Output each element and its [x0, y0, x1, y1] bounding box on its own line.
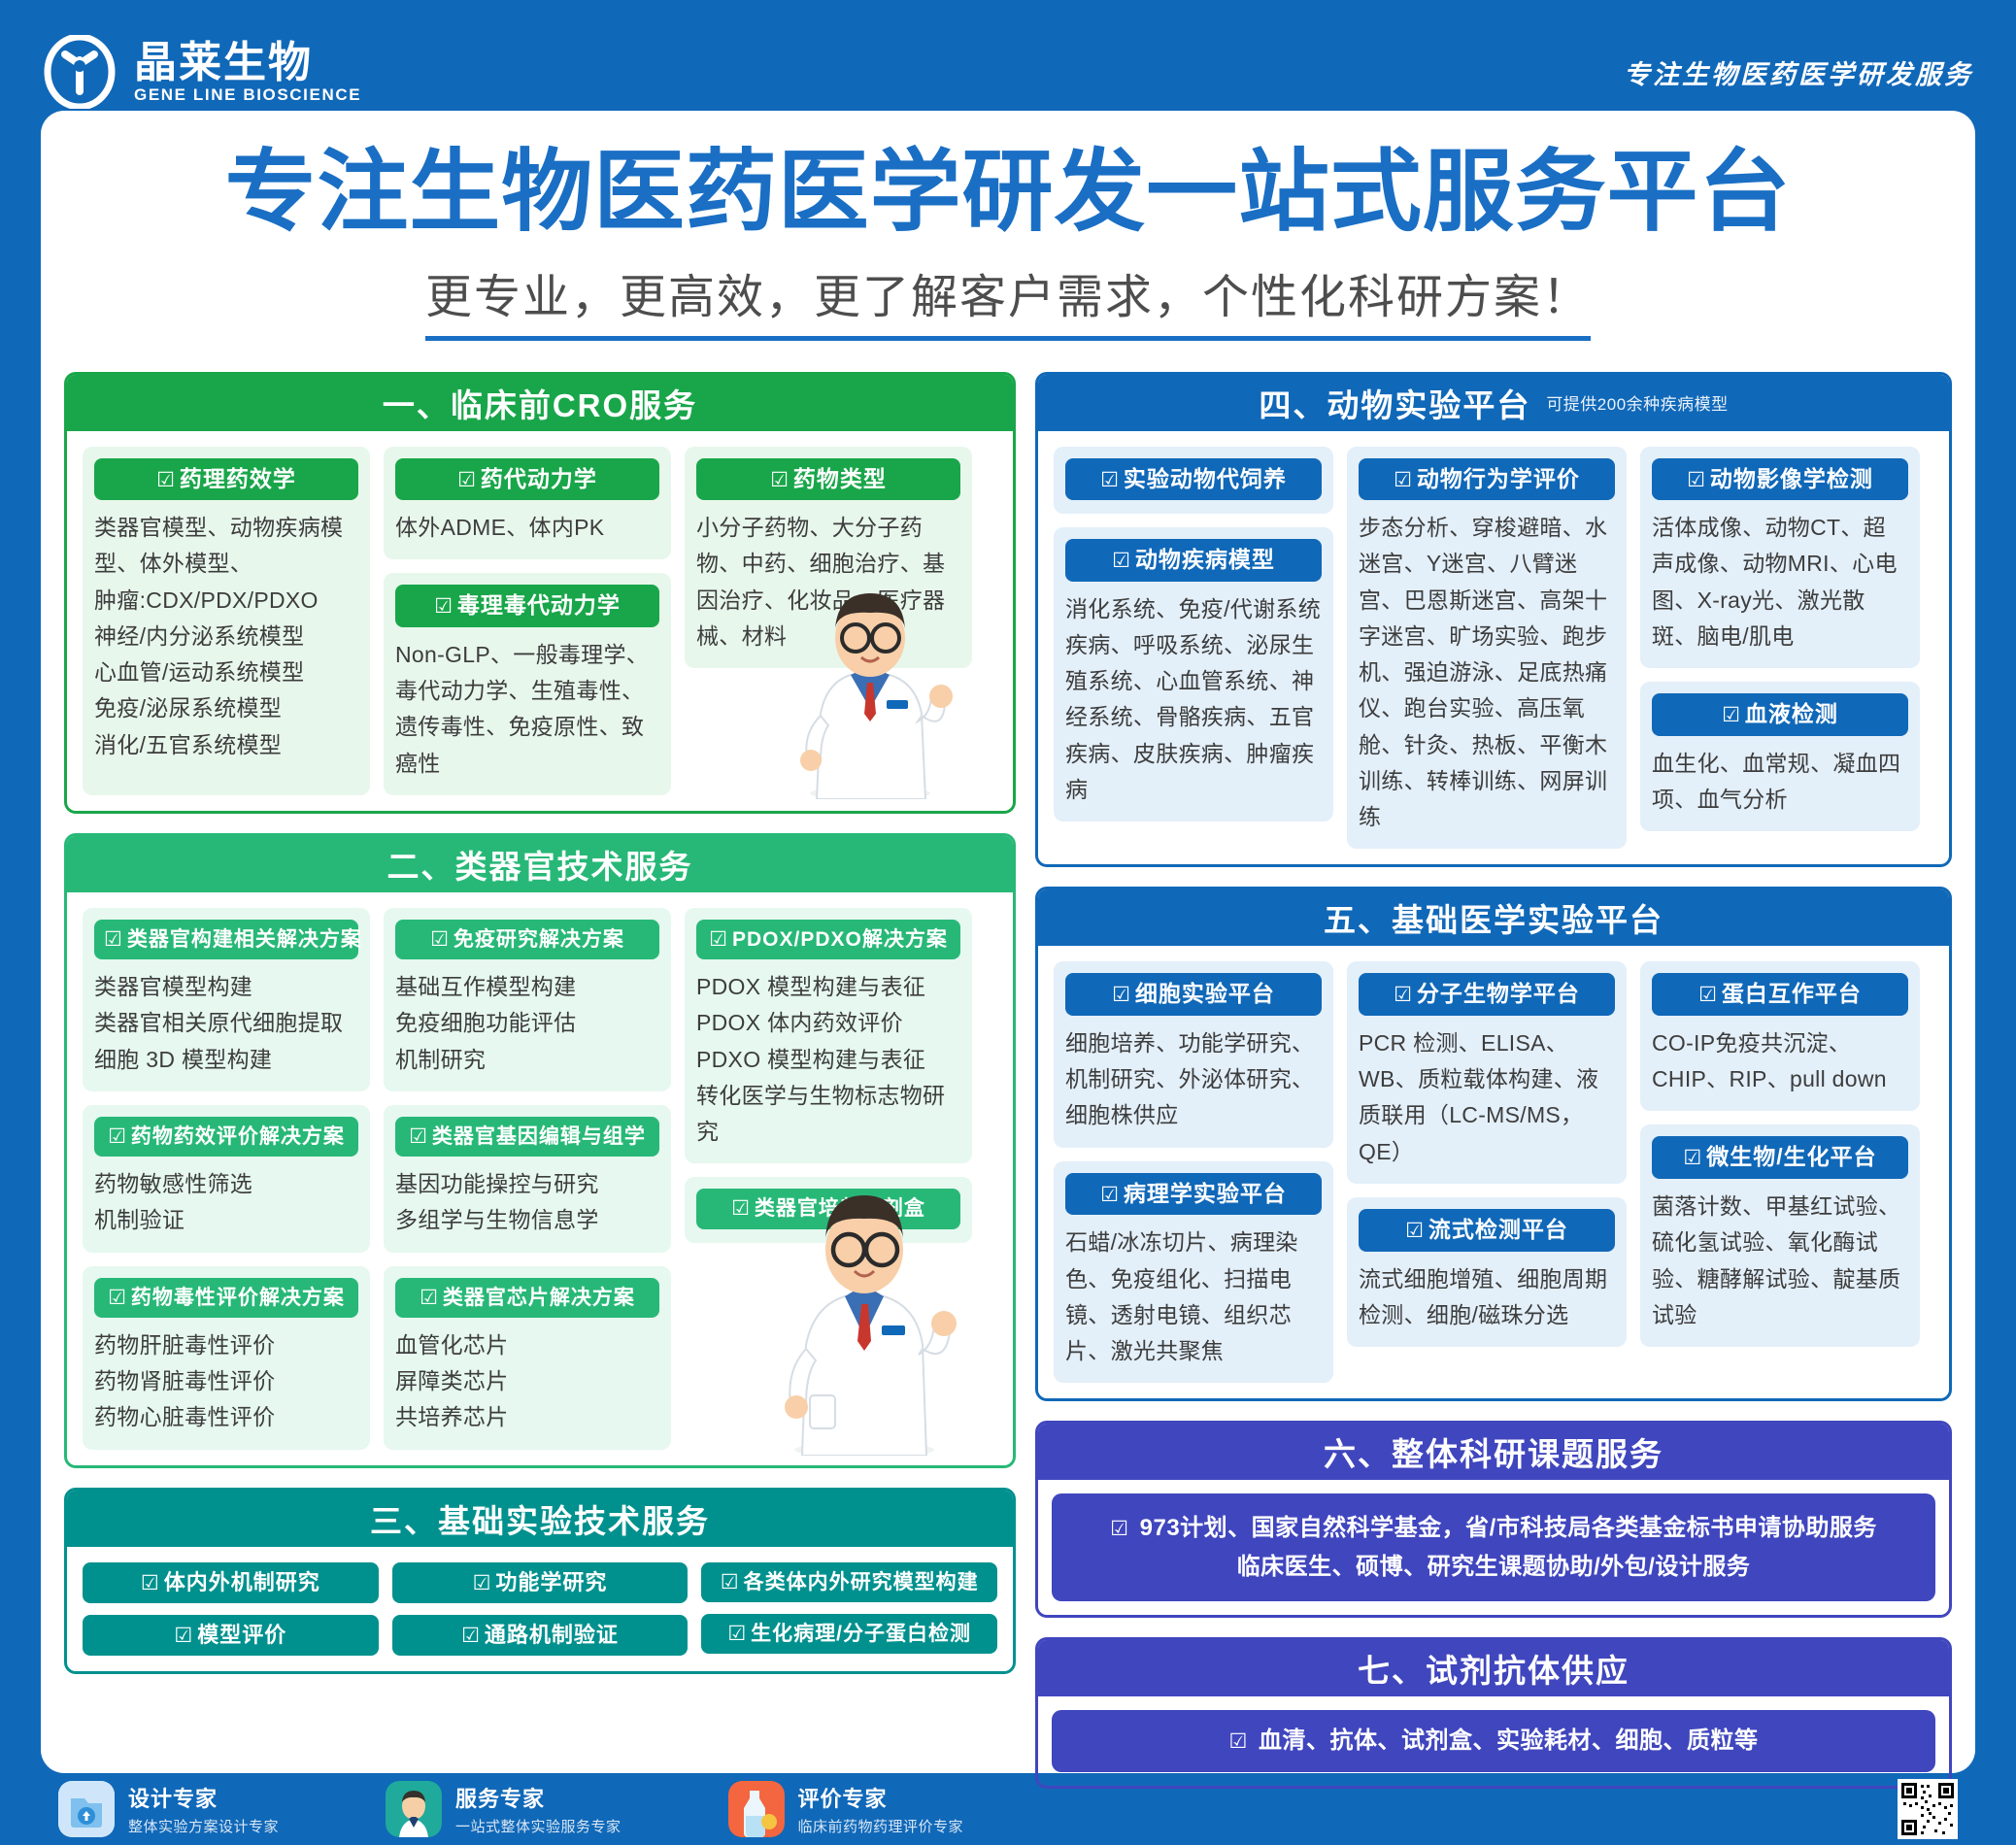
check-icon: ☑: [430, 928, 450, 951]
column-animal-behavior: ☑动物行为学评价 步态分析、穿梭避暗、水迷宫、Y迷宫、八臂迷宫、巴恩斯迷宫、高架…: [1347, 447, 1627, 850]
header-slogan: 专注生物医药医学研发服务: [1624, 53, 1973, 91]
card-toxicokinetics[interactable]: ☑毒理毒代动力学 Non-GLP、一般毒理学、毒代动力学、生殖毒性、遗传毒性、免…: [384, 573, 671, 795]
card-protein-interaction[interactable]: ☑蛋白互作平台 CO-IP免疫共沉淀、CHIP、RIP、pull down: [1640, 961, 1920, 1111]
s3-column-2: ☑功能学研究 ☑通路机制验证: [392, 1562, 689, 1657]
text-immune-research: 基础互作模型构建 免疫细胞功能评估 机制研究: [395, 969, 659, 1078]
card-gene-editing-omics[interactable]: ☑类器官基因编辑与组学 基因功能操控与研究 多组学与生物信息学: [384, 1105, 671, 1253]
check-icon: ☑: [1112, 550, 1131, 572]
column-pk-tox: ☑药代动力学 体外ADME、体内PK ☑毒理毒代动力学 Non-GLP、一般毒理…: [384, 447, 671, 795]
check-icon: ☑: [1100, 1184, 1120, 1206]
logo-english-name: GENE LINE BIOSCIENCE: [134, 86, 361, 103]
section-1-preclinical-cro: 一、临床前CRO服务 ☑药理药效学 类器官模型、动物疾病模型、体外模型、 肿瘤:…: [64, 372, 1016, 814]
check-icon: ☑: [174, 1625, 193, 1647]
pill-animal-boarding[interactable]: ☑实验动物代饲养: [1065, 458, 1322, 501]
text-pdox-solutions: PDOX 模型构建与表征 PDOX 体内药效评价 PDXO 模型构建与表征 转化…: [696, 969, 960, 1150]
pill-animal-disease-models[interactable]: ☑动物疾病模型: [1065, 539, 1322, 582]
poster-main-title: 专注生物医药医学研发一站式服务平台: [61, 146, 1955, 241]
section-2-body: ☑类器官构建相关解决方案 类器官模型构建 类器官相关原代细胞提取 细胞 3D 模…: [67, 892, 1013, 1465]
section-7-banner[interactable]: ☑ 血清、抗体、试剂盒、实验耗材、细胞、质粒等: [1052, 1710, 1935, 1772]
left-column: 一、临床前CRO服务 ☑药理药效学 类器官模型、动物疾病模型、体外模型、 肿瘤:…: [64, 372, 1016, 1809]
footer-desc-1: 整体实验方案设计专家: [128, 1816, 279, 1836]
section-4-note: 可提供200余种疾病模型: [1546, 390, 1728, 415]
footer-desc-2: 一站式整体实验服务专家: [455, 1816, 622, 1836]
section-7-reagent-antibody-supply: 七、试剂抗体供应 ☑ 血清、抗体、试剂盒、实验耗材、细胞、质粒等: [1035, 1637, 1952, 1789]
text-drug-types: 小分子药物、大分子药物、中药、细胞治疗、基因治疗、化妆品、医疗器械、材料: [696, 510, 960, 654]
card-cell-platform[interactable]: ☑细胞实验平台 细胞培养、功能学研究、机制研究、外泌体研究、细胞株供应: [1054, 961, 1333, 1147]
text-toxicokinetics: Non-GLP、一般毒理学、毒代动力学、生殖毒性、遗传毒性、免疫原性、致癌性: [395, 637, 659, 782]
section-6-line-2: 临床医生、硕博、研究生课题协助/外包/设计服务: [1063, 1548, 1924, 1587]
column-animal-models: ☑实验动物代饲养 ☑动物疾病模型 消化系统、免疫/代谢系统疾病、呼吸系统、泌尿生…: [1054, 447, 1333, 850]
pill-drug-toxicity-eval[interactable]: ☑药物毒性评价解决方案: [94, 1278, 358, 1318]
section-3-body: ☑体内外机制研究 ☑模型评价 ☑功能学研究 ☑通路机制验证 ☑各类体内外研究模型…: [67, 1547, 1013, 1672]
column-cell-pathology: ☑细胞实验平台 细胞培养、功能学研究、机制研究、外泌体研究、细胞株供应 ☑病理学…: [1054, 961, 1333, 1383]
text-pharmacology: 类器官模型、动物疾病模型、体外模型、 肿瘤:CDX/PDX/PDXO 神经/内分…: [94, 510, 358, 763]
check-icon: ☑: [1394, 984, 1413, 1006]
pill-pharmacokinetics[interactable]: ☑药代动力学: [395, 458, 659, 501]
check-icon: ☑: [1405, 1220, 1425, 1242]
card-microbiology-biochem[interactable]: ☑微生物/生化平台 菌落计数、甲基红试验、硫化氢试验、氧化酶试验、糖酵解试验、靛…: [1640, 1124, 1920, 1347]
poster-root: 晶莱生物 GENE LINE BIOSCIENCE 专注生物医药医学研发服务 专…: [0, 0, 2016, 1845]
text-flow-cytometry: 流式细胞增殖、细胞周期检测、细胞/磁珠分选: [1359, 1261, 1615, 1334]
check-icon: ☑: [156, 469, 176, 491]
section-3-pill-grid: ☑体内外机制研究 ☑模型评价 ☑功能学研究 ☑通路机制验证 ☑各类体内外研究模型…: [83, 1562, 997, 1657]
pill-pdox-solutions[interactable]: ☑PDOX/PDXO解决方案: [696, 920, 960, 959]
gene-line-emblem-icon: [43, 35, 117, 109]
text-pathology-platform: 石蜡/冰冻切片、病理染色、免疫组化、扫描电镜、透射电镜、组织芯片、激光共聚焦: [1065, 1224, 1322, 1369]
check-icon: ☑: [1229, 1730, 1248, 1753]
check-icon: ☑: [1100, 469, 1120, 491]
logo-chinese-name: 晶莱生物: [134, 42, 361, 84]
pill-animal-imaging[interactable]: ☑动物影像学检测: [1652, 458, 1908, 501]
section-6-title: 六、整体科研课题服务: [1324, 1428, 1663, 1475]
check-icon: ☑: [434, 595, 454, 618]
column-molecular-flow: ☑分子生物学平台 PCR 检测、ELISA、WB、质粒载体构建、液质联用（LC-…: [1347, 961, 1627, 1383]
check-icon: ☑: [108, 1287, 127, 1309]
section-3-header: 三、基础实验技术服务: [67, 1491, 1013, 1547]
footer-title-2: 服务专家: [455, 1782, 622, 1813]
section-3-title: 三、基础实验技术服务: [370, 1495, 710, 1542]
text-pharmacokinetics: 体外ADME、体内PK: [395, 510, 659, 546]
section-6-research-project-service: 六、整体科研课题服务 ☑ 973计划、国家自然科学基金，省/市科技局各类基金标书…: [1035, 1421, 1952, 1618]
text-animal-behavior: 步态分析、穿梭避暗、水迷宫、Y迷宫、八臂迷宫、巴恩斯迷宫、高架十字迷宫、旷场实验…: [1359, 510, 1615, 835]
section-7-line-1: ☑ 血清、抗体、试剂盒、实验耗材、细胞、质粒等: [1063, 1722, 1924, 1761]
check-icon: ☑: [1110, 1518, 1128, 1540]
section-7-title: 七、试剂抗体供应: [1358, 1645, 1630, 1692]
footer-item-design-expert: 设计专家 整体实验方案设计专家: [58, 1781, 279, 1837]
pill-immune-research[interactable]: ☑免疫研究解决方案: [395, 920, 659, 959]
section-5-basic-medical-platform: 五、基础医学实验平台 ☑细胞实验平台 细胞培养、功能学研究、机制研究、外泌体研究…: [1035, 887, 1952, 1401]
card-drug-toxicity-eval[interactable]: ☑药物毒性评价解决方案 药物肝脏毒性评价 药物肾脏毒性评价 药物心脏毒性评价: [83, 1266, 370, 1450]
pill-blood-testing[interactable]: ☑血液检测: [1652, 693, 1908, 736]
right-column: 四、动物实验平台 可提供200余种疾病模型 ☑实验动物代饲养 ☑动物疾病模型 消…: [1035, 372, 1952, 1809]
footer-bar: 设计专家 整体实验方案设计专家 服务专家 一站式整体实验服务专家: [0, 1773, 2016, 1845]
text-animal-imaging: 活体成像、动物CT、超声成像、动物MRI、心电图、X-ray光、激光散斑、脑电/…: [1652, 510, 1908, 654]
section-4-title: 四、动物实验平台: [1259, 380, 1530, 426]
company-logo: 晶莱生物 GENE LINE BIOSCIENCE: [43, 35, 361, 109]
section-6-banner[interactable]: ☑ 973计划、国家自然科学基金，省/市科技局各类基金标书申请协助服务 临床医生…: [1052, 1493, 1935, 1601]
text-gene-editing-omics: 基因功能操控与研究 多组学与生物信息学: [395, 1166, 659, 1239]
reagent-bottle-icon: [728, 1781, 785, 1837]
section-1-body: ☑药理药效学 类器官模型、动物疾病模型、体外模型、 肿瘤:CDX/PDX/PDX…: [67, 431, 1013, 811]
check-icon: ☑: [1722, 704, 1741, 726]
card-animal-behavior[interactable]: ☑动物行为学评价 步态分析、穿梭避暗、水迷宫、Y迷宫、八臂迷宫、巴恩斯迷宫、高架…: [1347, 447, 1627, 850]
text-protein-interaction: CO-IP免疫共沉淀、CHIP、RIP、pull down: [1652, 1025, 1908, 1098]
section-2-title: 二、类器官技术服务: [387, 841, 693, 888]
text-microbiology-biochem: 菌落计数、甲基红试验、硫化氢试验、氧化酶试验、糖酵解试验、靛基质试验: [1652, 1189, 1908, 1333]
check-icon: ☑: [1112, 984, 1131, 1006]
section-5-title: 五、基础医学实验平台: [1324, 894, 1663, 941]
doctor-avatar-icon: [386, 1781, 442, 1837]
pill-pathway-mechanism-validation[interactable]: ☑通路机制验证: [392, 1615, 689, 1656]
section-1-title: 一、临床前CRO服务: [383, 380, 697, 426]
card-animal-disease-models[interactable]: ☑动物疾病模型 消化系统、免疫/代谢系统疾病、呼吸系统、泌尿生殖系统、心血管系统…: [1054, 527, 1333, 822]
pill-research-model-construction[interactable]: ☑各类体内外研究模型构建: [701, 1562, 997, 1602]
card-pdox-solutions[interactable]: ☑PDOX/PDXO解决方案 PDOX 模型构建与表征 PDOX 体内药效评价 …: [685, 908, 972, 1163]
text-drug-efficacy-eval: 药物敏感性筛选 机制验证: [94, 1166, 358, 1239]
check-icon: ☑: [721, 1571, 740, 1593]
pill-flow-cytometry[interactable]: ☑流式检测平台: [1359, 1209, 1615, 1252]
s3-column-1: ☑体内外机制研究 ☑模型评价: [83, 1562, 379, 1657]
column-immune-genomics: ☑免疫研究解决方案 基础互作模型构建 免疫细胞功能评估 机制研究 ☑类器官基因编…: [384, 908, 671, 1450]
check-icon: ☑: [770, 469, 790, 491]
check-icon: ☑: [420, 1287, 439, 1309]
pill-invivo-invitro-mechanism[interactable]: ☑体内外机制研究: [83, 1562, 379, 1603]
check-icon: ☑: [457, 469, 477, 491]
pill-gene-editing-omics[interactable]: ☑类器官基因编辑与组学: [395, 1117, 659, 1157]
card-organoid-construction[interactable]: ☑类器官构建相关解决方案 类器官模型构建 类器官相关原代细胞提取 细胞 3D 模…: [83, 908, 370, 1091]
text-organ-chip: 血管化芯片 屏障类芯片 共培养芯片: [395, 1327, 659, 1436]
text-organoid-construction: 类器官模型构建 类器官相关原代细胞提取 细胞 3D 模型构建: [94, 969, 358, 1078]
card-drug-types[interactable]: ☑药物类型 小分子药物、大分子药物、中药、细胞治疗、基因治疗、化妆品、医疗器械、…: [685, 447, 972, 669]
s3-column-3: ☑各类体内外研究模型构建 ☑生化病理/分子蛋白检测: [701, 1562, 997, 1657]
check-icon: ☑: [473, 1572, 492, 1594]
section-2-header: 二、类器官技术服务: [67, 836, 1013, 892]
section-1-header: 一、临床前CRO服务: [67, 375, 1013, 431]
pill-drug-types[interactable]: ☑药物类型: [696, 458, 960, 501]
text-cell-platform: 细胞培养、功能学研究、机制研究、外泌体研究、细胞株供应: [1065, 1025, 1322, 1134]
pill-organ-chip[interactable]: ☑类器官芯片解决方案: [395, 1278, 659, 1318]
card-organoid-kit[interactable]: ☑类器官培养试剂盒: [685, 1177, 972, 1242]
text-molecular-biology: PCR 检测、ELISA、WB、质粒载体构建、液质联用（LC-MS/MS，QE）: [1359, 1025, 1615, 1170]
folder-upload-icon: [58, 1781, 115, 1837]
column-drug-types: ☑药物类型 小分子药物、大分子药物、中药、细胞治疗、基因治疗、化妆品、医疗器械、…: [685, 447, 972, 795]
card-animal-imaging[interactable]: ☑动物影像学检测 活体成像、动物CT、超声成像、动物MRI、心电图、X-ray光…: [1640, 447, 1920, 669]
pill-pathology-platform[interactable]: ☑病理学实验平台: [1065, 1173, 1322, 1216]
poster-subtitle: 更专业，更高效，更了解客户需求，个性化科研方案！: [425, 258, 1591, 326]
card-pathology-platform[interactable]: ☑病理学实验平台 石蜡/冰冻切片、病理染色、免疫组化、扫描电镜、透射电镜、组织芯…: [1054, 1161, 1333, 1384]
column-pdox-kit: ☑PDOX/PDXO解决方案 PDOX 模型构建与表征 PDOX 体内药效评价 …: [685, 908, 972, 1450]
pill-microbiology-biochem[interactable]: ☑微生物/生化平台: [1652, 1136, 1908, 1179]
column-organoid-solutions: ☑类器官构建相关解决方案 类器官模型构建 类器官相关原代细胞提取 细胞 3D 模…: [83, 908, 370, 1450]
check-icon: ☑: [1394, 469, 1413, 491]
section-5-header: 五、基础医学实验平台: [1038, 889, 1949, 946]
pill-protein-interaction[interactable]: ☑蛋白互作平台: [1652, 973, 1908, 1016]
hero-title-zone: 专注生物医药医学研发一站式服务平台 更专业，更高效，更了解客户需求，个性化科研方…: [41, 111, 1975, 351]
section-5-body: ☑细胞实验平台 细胞培养、功能学研究、机制研究、外泌体研究、细胞株供应 ☑病理学…: [1038, 946, 1949, 1398]
card-blood-testing[interactable]: ☑血液检测 血生化、血常规、凝血四项、血气分析: [1640, 682, 1920, 831]
check-icon: ☑: [1687, 469, 1706, 491]
card-molecular-biology[interactable]: ☑分子生物学平台 PCR 检测、ELISA、WB、质粒载体构建、液质联用（LC-…: [1347, 961, 1627, 1184]
pill-toxicokinetics[interactable]: ☑毒理毒代动力学: [395, 585, 659, 627]
text-blood-testing: 血生化、血常规、凝血四项、血气分析: [1652, 746, 1908, 819]
check-icon: ☑: [1698, 984, 1718, 1006]
two-column-layout: 一、临床前CRO服务 ☑药理药效学 类器官模型、动物疾病模型、体外模型、 肿瘤:…: [41, 351, 1975, 1809]
section-7-header: 七、试剂抗体供应: [1038, 1640, 1949, 1696]
check-icon: ☑: [409, 1125, 428, 1148]
pill-animal-behavior[interactable]: ☑动物行为学评价: [1359, 458, 1615, 501]
column-protein-micro: ☑蛋白互作平台 CO-IP免疫共沉淀、CHIP、RIP、pull down ☑微…: [1640, 961, 1920, 1383]
main-content-card: 专注生物医药医学研发一站式服务平台 更专业，更高效，更了解客户需求，个性化科研方…: [41, 111, 1975, 1773]
section-6-header: 六、整体科研课题服务: [1038, 1424, 1949, 1480]
section-4-body: ☑实验动物代饲养 ☑动物疾病模型 消化系统、免疫/代谢系统疾病、呼吸系统、泌尿生…: [1038, 431, 1949, 865]
card-drug-efficacy-eval[interactable]: ☑药物药效评价解决方案 药物敏感性筛选 机制验证: [83, 1105, 370, 1253]
check-icon: ☑: [731, 1197, 751, 1220]
card-flow-cytometry[interactable]: ☑流式检测平台 流式细胞增殖、细胞周期检测、细胞/磁珠分选: [1347, 1197, 1627, 1347]
card-organ-chip[interactable]: ☑类器官芯片解决方案 血管化芯片 屏障类芯片 共培养芯片: [384, 1266, 671, 1450]
column-imaging-blood: ☑动物影像学检测 活体成像、动物CT、超声成像、动物MRI、心电图、X-ray光…: [1640, 447, 1920, 850]
section-6-line-1: ☑ 973计划、国家自然科学基金，省/市科技局各类基金标书申请协助服务: [1063, 1509, 1924, 1548]
pill-pharmacology[interactable]: ☑药理药效学: [94, 458, 358, 501]
footer-item-evaluation-expert: 评价专家 临床前药物药理评价专家: [728, 1781, 964, 1837]
section-4-animal-platform: 四、动物实验平台 可提供200余种疾病模型 ☑实验动物代饲养 ☑动物疾病模型 消…: [1035, 372, 1952, 868]
card-pharmacokinetics[interactable]: ☑药代动力学 体外ADME、体内PK: [384, 447, 671, 560]
qr-code[interactable]: [1898, 1779, 1958, 1839]
card-pharmacology[interactable]: ☑药理药效学 类器官模型、动物疾病模型、体外模型、 肿瘤:CDX/PDX/PDX…: [83, 447, 370, 795]
footer-desc-3: 临床前药物药理评价专家: [798, 1816, 964, 1836]
check-icon: ☑: [461, 1625, 481, 1647]
pill-organoid-kit[interactable]: ☑类器官培养试剂盒: [696, 1189, 960, 1228]
pill-molecular-biology[interactable]: ☑分子生物学平台: [1359, 973, 1615, 1016]
text-drug-toxicity-eval: 药物肝脏毒性评价 药物肾脏毒性评价 药物心脏毒性评价: [94, 1327, 358, 1436]
card-animal-boarding[interactable]: ☑实验动物代饲养: [1054, 447, 1333, 515]
card-immune-research[interactable]: ☑免疫研究解决方案 基础互作模型构建 免疫细胞功能评估 机制研究: [384, 908, 671, 1091]
pill-organoid-construction[interactable]: ☑类器官构建相关解决方案: [94, 920, 358, 959]
footer-item-service-expert: 服务专家 一站式整体实验服务专家: [386, 1781, 622, 1837]
check-icon: ☑: [108, 1125, 127, 1148]
check-icon: ☑: [1683, 1147, 1702, 1169]
check-icon: ☑: [727, 1623, 747, 1645]
section-3-basic-lab-tech: 三、基础实验技术服务 ☑体内外机制研究 ☑模型评价 ☑功能学研究 ☑通路机制验证: [64, 1488, 1016, 1675]
hero-subtitle-underline: 更专业，更高效，更了解客户需求，个性化科研方案！: [425, 258, 1591, 341]
pill-functional-research[interactable]: ☑功能学研究: [392, 1562, 689, 1603]
footer-title-1: 设计专家: [128, 1782, 279, 1813]
check-icon: ☑: [104, 928, 123, 951]
check-icon: ☑: [141, 1572, 160, 1594]
pill-biochem-pathology-protein[interactable]: ☑生化病理/分子蛋白检测: [701, 1614, 997, 1654]
check-icon: ☑: [709, 928, 728, 951]
text-animal-disease-models: 消化系统、免疫/代谢系统疾病、呼吸系统、泌尿生殖系统、心血管系统、神经系统、骨骼…: [1065, 591, 1322, 809]
section-2-organoid-tech: 二、类器官技术服务 ☑类器官构建相关解决方案 类器官模型构建 类器官相关原代细胞…: [64, 833, 1016, 1468]
footer-title-3: 评价专家: [798, 1782, 964, 1813]
pill-cell-platform[interactable]: ☑细胞实验平台: [1065, 973, 1322, 1016]
section-4-header: 四、动物实验平台 可提供200余种疾病模型: [1038, 375, 1949, 431]
pill-model-evaluation[interactable]: ☑模型评价: [83, 1615, 379, 1656]
pill-drug-efficacy-eval[interactable]: ☑药物药效评价解决方案: [94, 1117, 358, 1157]
